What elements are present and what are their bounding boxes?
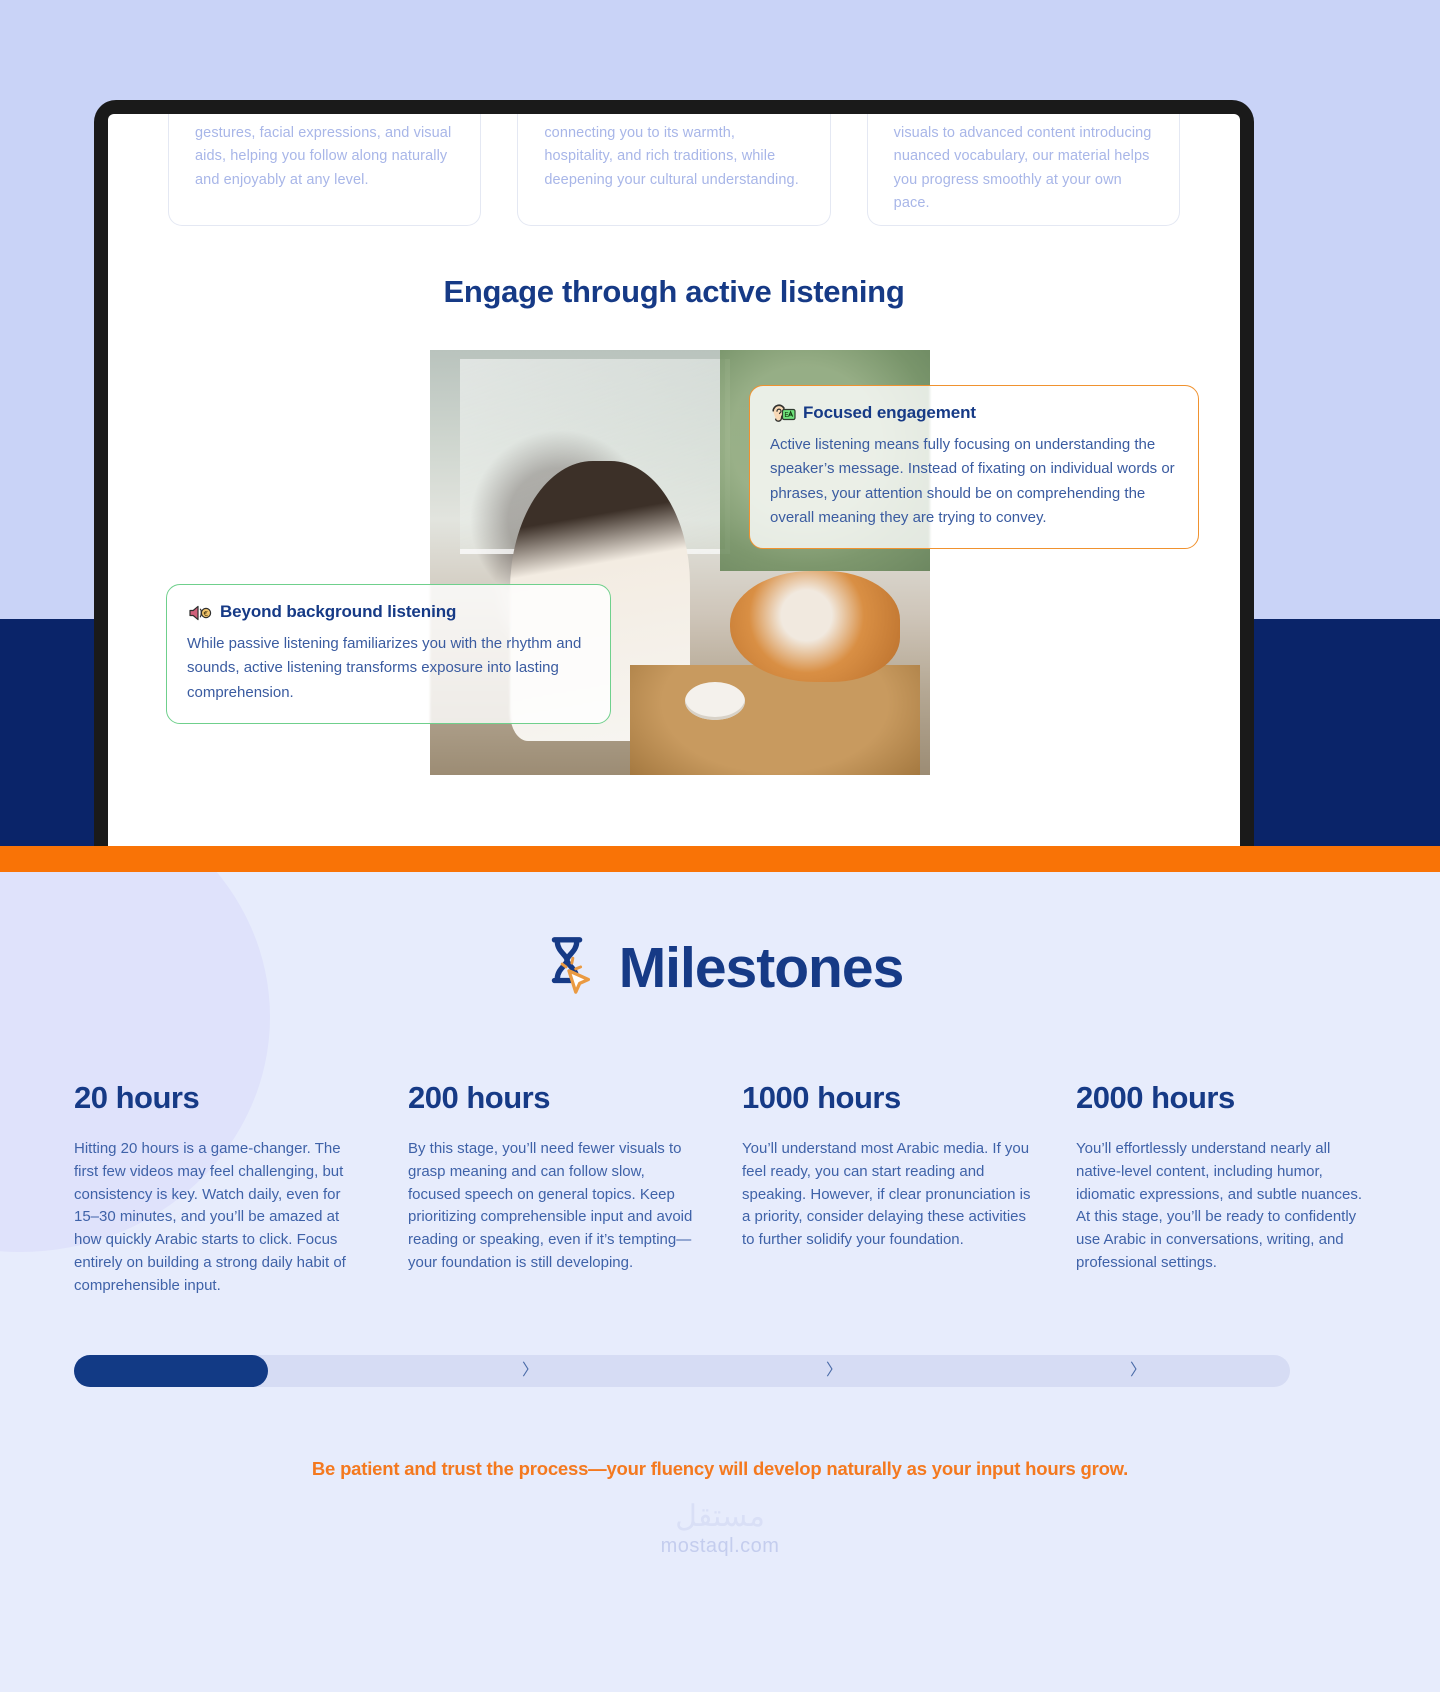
milestones-section: Milestones 20 hours Hitting 20 hours is … [0, 872, 1440, 1692]
truncated-card: gestures, facial expressions, and visual… [168, 114, 481, 226]
progress-step-2[interactable]: 〉 [378, 1363, 682, 1379]
milestone-heading: 20 hours [74, 1080, 364, 1116]
milestones-title: Milestones [619, 935, 904, 1001]
progress-step-4[interactable]: 〉 [986, 1363, 1290, 1379]
truncated-card-text: visuals to advanced content introducing … [894, 122, 1153, 216]
photo-coffee-cup [685, 682, 745, 720]
orange-divider-band [0, 846, 1440, 872]
truncated-cards-row: gestures, facial expressions, and visual… [108, 114, 1240, 226]
milestone-body: You’ll understand most Arabic media. If … [742, 1138, 1032, 1252]
watermark-arabic: مستقل [0, 1500, 1440, 1535]
watermark-latin: mostaql.com [0, 1535, 1440, 1558]
milestone-body: Hitting 20 hours is a game-changer. The … [74, 1138, 364, 1298]
milestone-body: You’ll effortlessly understand nearly al… [1076, 1138, 1366, 1275]
beyond-background-listening-card: € Beyond background listening While pass… [166, 584, 611, 724]
milestone-column-1000-hours: 1000 hours You’ll understand most Arabic… [742, 1080, 1032, 1298]
laptop-screen: gestures, facial expressions, and visual… [108, 114, 1240, 858]
progress-fill [74, 1355, 268, 1387]
photo-dog [730, 571, 900, 682]
milestone-column-20-hours: 20 hours Hitting 20 hours is a game-chan… [74, 1080, 364, 1298]
svg-text:E: E [784, 411, 788, 419]
card-header: E Focused engagement [770, 402, 1178, 424]
milestones-columns: 20 hours Hitting 20 hours is a game-chan… [74, 1080, 1366, 1298]
milestones-footnote: Be patient and trust the process—your fl… [0, 1458, 1440, 1480]
ear-listening-icon: E [770, 402, 794, 424]
milestones-progress-bar[interactable]: 〉 〉 〉 [74, 1355, 1290, 1387]
watermark: مستقل mostaql.com [0, 1500, 1440, 1558]
milestone-column-2000-hours: 2000 hours You’ll effortlessly understan… [1076, 1080, 1366, 1298]
card-header: € Beyond background listening [187, 601, 590, 623]
card-title: Focused engagement [803, 403, 976, 423]
engage-section-title: Engage through active listening [108, 274, 1240, 310]
milestone-column-200-hours: 200 hours By this stage, you’ll need few… [408, 1080, 698, 1298]
laptop-mockup-section: gestures, facial expressions, and visual… [0, 0, 1440, 872]
milestones-header: Milestones [0, 932, 1440, 1003]
milestone-heading: 200 hours [408, 1080, 698, 1116]
progress-step-3[interactable]: 〉 [682, 1363, 986, 1379]
milestone-heading: 2000 hours [1076, 1080, 1366, 1116]
card-body: While passive listening familiarizes you… [187, 632, 590, 705]
truncated-card: connecting you to its warmth, hospitalit… [517, 114, 830, 226]
focused-engagement-card: E Focused engagement Active listening me… [749, 385, 1199, 549]
laptop-frame: gestures, facial expressions, and visual… [94, 100, 1254, 858]
svg-text:€: € [204, 610, 208, 618]
truncated-card-text: connecting you to its warmth, hospitalit… [544, 122, 803, 192]
photo-table [630, 665, 920, 776]
card-title: Beyond background listening [220, 602, 456, 622]
card-body: Active listening means fully focusing on… [770, 433, 1178, 530]
truncated-card-text: gestures, facial expressions, and visual… [195, 122, 454, 192]
speaker-sound-icon: € [187, 601, 211, 623]
milestone-heading: 1000 hours [742, 1080, 1032, 1116]
truncated-card: visuals to advanced content introducing … [867, 114, 1180, 226]
hourglass-cursor-icon [537, 932, 599, 1003]
milestone-body: By this stage, you’ll need fewer visuals… [408, 1138, 698, 1275]
